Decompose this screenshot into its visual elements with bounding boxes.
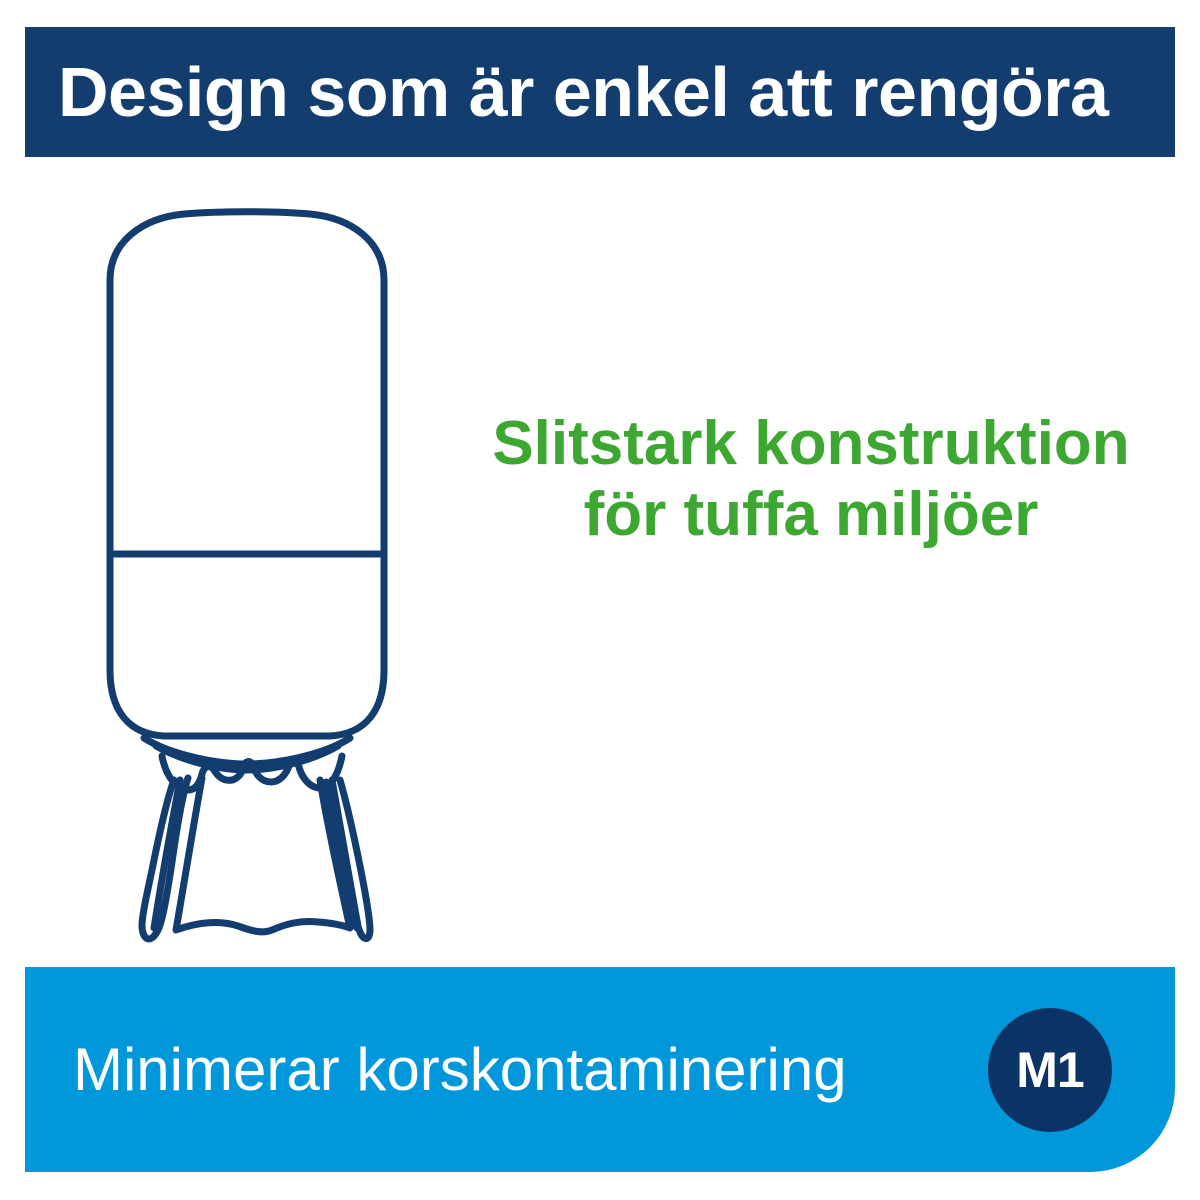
dispenser-illustration (80, 190, 440, 950)
feature-headline: Slitstark konstruktion för tuffa miljöer (455, 408, 1167, 551)
feature-headline-line-1: Slitstark konstruktion (455, 408, 1167, 479)
footer-banner: Minimerar korskontaminering M1 (25, 967, 1175, 1172)
system-badge: M1 (988, 1008, 1112, 1132)
feature-headline-line-2: för tuffa miljöer (455, 479, 1167, 550)
poster-canvas: Design som är enkel att rengöra (0, 0, 1200, 1200)
header-title: Design som är enkel att rengöra (25, 57, 1108, 127)
paper-main-sheet (176, 778, 350, 932)
paper-right-fold-line (326, 782, 357, 928)
dispenser-illustration-svg (80, 190, 440, 950)
system-badge-label: M1 (1016, 1045, 1083, 1095)
footer-claim-text: Minimerar korskontaminering (73, 1040, 847, 1100)
dispenser-body-outline (110, 212, 384, 736)
header-banner: Design som är enkel att rengöra (25, 27, 1175, 157)
